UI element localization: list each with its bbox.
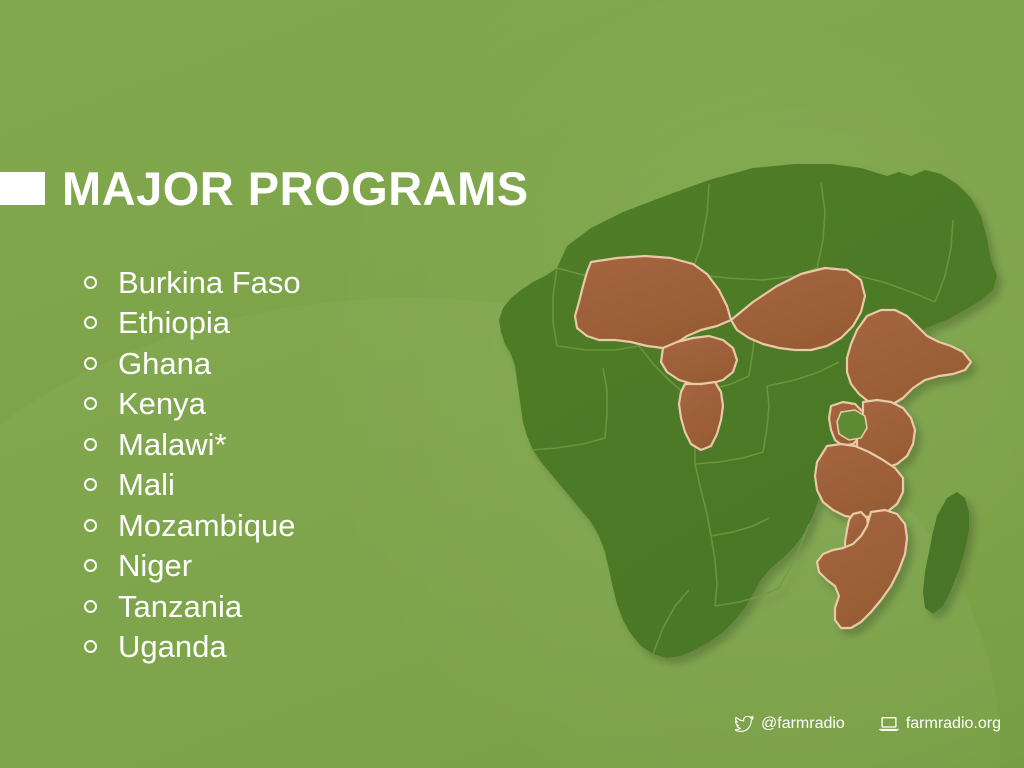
- website-url-label: farmradio.org: [906, 716, 1001, 732]
- open-circle-bullet-icon: [84, 519, 97, 532]
- list-item[interactable]: Mozambique: [84, 505, 301, 546]
- country-label: Ethiopia: [118, 307, 230, 338]
- list-item[interactable]: Burkina Faso: [84, 262, 301, 303]
- country-label: Burkina Faso: [118, 267, 301, 298]
- open-circle-bullet-icon: [84, 600, 97, 613]
- laptop-icon: [879, 716, 899, 732]
- website-link[interactable]: farmradio.org: [879, 716, 1001, 732]
- list-item[interactable]: Ethiopia: [84, 303, 301, 344]
- footer: @farmradio farmradio.org: [735, 716, 1001, 732]
- country-label: Mali: [118, 469, 175, 500]
- title-label: MAJOR PROGRAMS: [62, 165, 529, 212]
- country-label: Kenya: [118, 388, 206, 419]
- page-title: MAJOR PROGRAMS: [0, 160, 529, 216]
- title-marker-square: [0, 172, 45, 205]
- list-item[interactable]: Mali: [84, 465, 301, 506]
- country-highlight-burkina-faso: [661, 336, 737, 384]
- open-circle-bullet-icon: [84, 478, 97, 491]
- country-list: Burkina Faso Ethiopia Ghana Kenya Malawi…: [84, 262, 301, 667]
- open-circle-bullet-icon: [84, 357, 97, 370]
- open-circle-bullet-icon: [84, 438, 97, 451]
- country-highlight-ethiopia: [847, 310, 971, 406]
- list-item[interactable]: Kenya: [84, 384, 301, 425]
- twitter-handle-label: @farmradio: [761, 716, 845, 732]
- country-label: Niger: [118, 550, 192, 581]
- list-item[interactable]: Uganda: [84, 627, 301, 668]
- list-item[interactable]: Niger: [84, 546, 301, 587]
- twitter-handle[interactable]: @farmradio: [735, 716, 845, 732]
- list-item[interactable]: Tanzania: [84, 586, 301, 627]
- open-circle-bullet-icon: [84, 559, 97, 572]
- country-label: Tanzania: [118, 591, 242, 622]
- africa-landmass: [499, 164, 997, 658]
- country-label: Mozambique: [118, 510, 295, 541]
- list-item[interactable]: Malawi*: [84, 424, 301, 465]
- open-circle-bullet-icon: [84, 316, 97, 329]
- list-item[interactable]: Ghana: [84, 343, 301, 384]
- country-label: Malawi*: [118, 429, 227, 460]
- country-label: Ghana: [118, 348, 211, 379]
- open-circle-bullet-icon: [84, 397, 97, 410]
- madagascar-island: [923, 492, 969, 614]
- lake-victoria: [837, 410, 867, 440]
- africa-map: [495, 150, 1015, 680]
- open-circle-bullet-icon: [84, 640, 97, 653]
- twitter-bird-icon: [735, 716, 754, 732]
- slide-canvas: MAJOR PROGRAMS Burkina Faso Ethiopia Gha…: [0, 0, 1024, 768]
- open-circle-bullet-icon: [84, 276, 97, 289]
- country-label: Uganda: [118, 631, 227, 662]
